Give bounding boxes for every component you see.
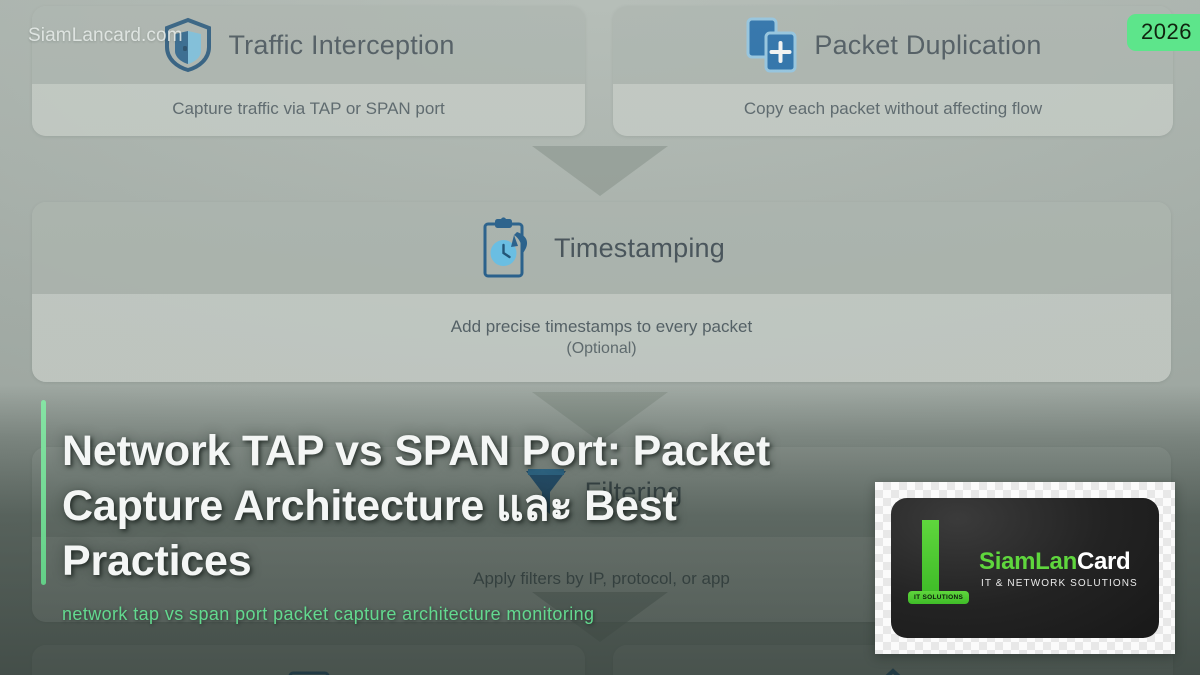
card-packet-duplication[interactable]: Packet Duplication Copy each packet with… xyxy=(613,6,1173,136)
card-bottom-left-partial[interactable] xyxy=(32,645,585,675)
keyword-tags: network tap vs span port packet capture … xyxy=(62,604,594,625)
card-header: Timestamping xyxy=(32,202,1171,294)
title-accent-bar xyxy=(41,400,46,585)
logo-bar-mark-icon xyxy=(922,520,939,594)
logo-inner: IT SOLUTIONS SiamLanCard IT & NETWORK SO… xyxy=(891,498,1159,638)
logo-tagline: IT & NETWORK SOLUTIONS xyxy=(981,578,1138,589)
card-timestamping[interactable]: Timestamping Add precise timestamps to e… xyxy=(32,202,1171,382)
year-badge[interactable]: 2026 xyxy=(1127,14,1200,51)
clipboard-clock-icon xyxy=(478,216,540,280)
analysis-icon xyxy=(868,665,918,675)
storage-icon xyxy=(284,665,334,675)
card-body: Copy each packet without affecting flow xyxy=(613,84,1173,136)
card-header: Packet Duplication xyxy=(613,6,1173,84)
card-title: Traffic Interception xyxy=(228,30,454,61)
card-description: Add precise timestamps to every packet xyxy=(451,317,752,337)
logo-wordmark: SiamLanCard xyxy=(979,548,1130,576)
card-header xyxy=(32,645,585,675)
card-title: Packet Duplication xyxy=(814,30,1041,61)
card-body: Add precise timestamps to every packet (… xyxy=(32,294,1171,382)
logo-pill-label: IT SOLUTIONS xyxy=(908,591,969,604)
logo-wordmark-part1: SiamLan xyxy=(979,548,1077,575)
site-watermark: SiamLancard.com xyxy=(28,25,183,47)
card-body: Capture traffic via TAP or SPAN port xyxy=(32,84,585,136)
flow-arrow-down-icon xyxy=(532,146,668,196)
card-subnote: (Optional) xyxy=(566,340,636,358)
brand-logo-card[interactable]: IT SOLUTIONS SiamLanCard IT & NETWORK SO… xyxy=(875,482,1175,654)
page-title: Network TAP vs SPAN Port: Packet Capture… xyxy=(62,424,852,589)
duplicate-packets-icon xyxy=(744,16,800,74)
card-description: Capture traffic via TAP or SPAN port xyxy=(172,99,444,119)
card-description: Copy each packet without affecting flow xyxy=(744,99,1042,119)
card-title: Timestamping xyxy=(554,233,725,264)
logo-wordmark-part2: Card xyxy=(1077,548,1130,575)
